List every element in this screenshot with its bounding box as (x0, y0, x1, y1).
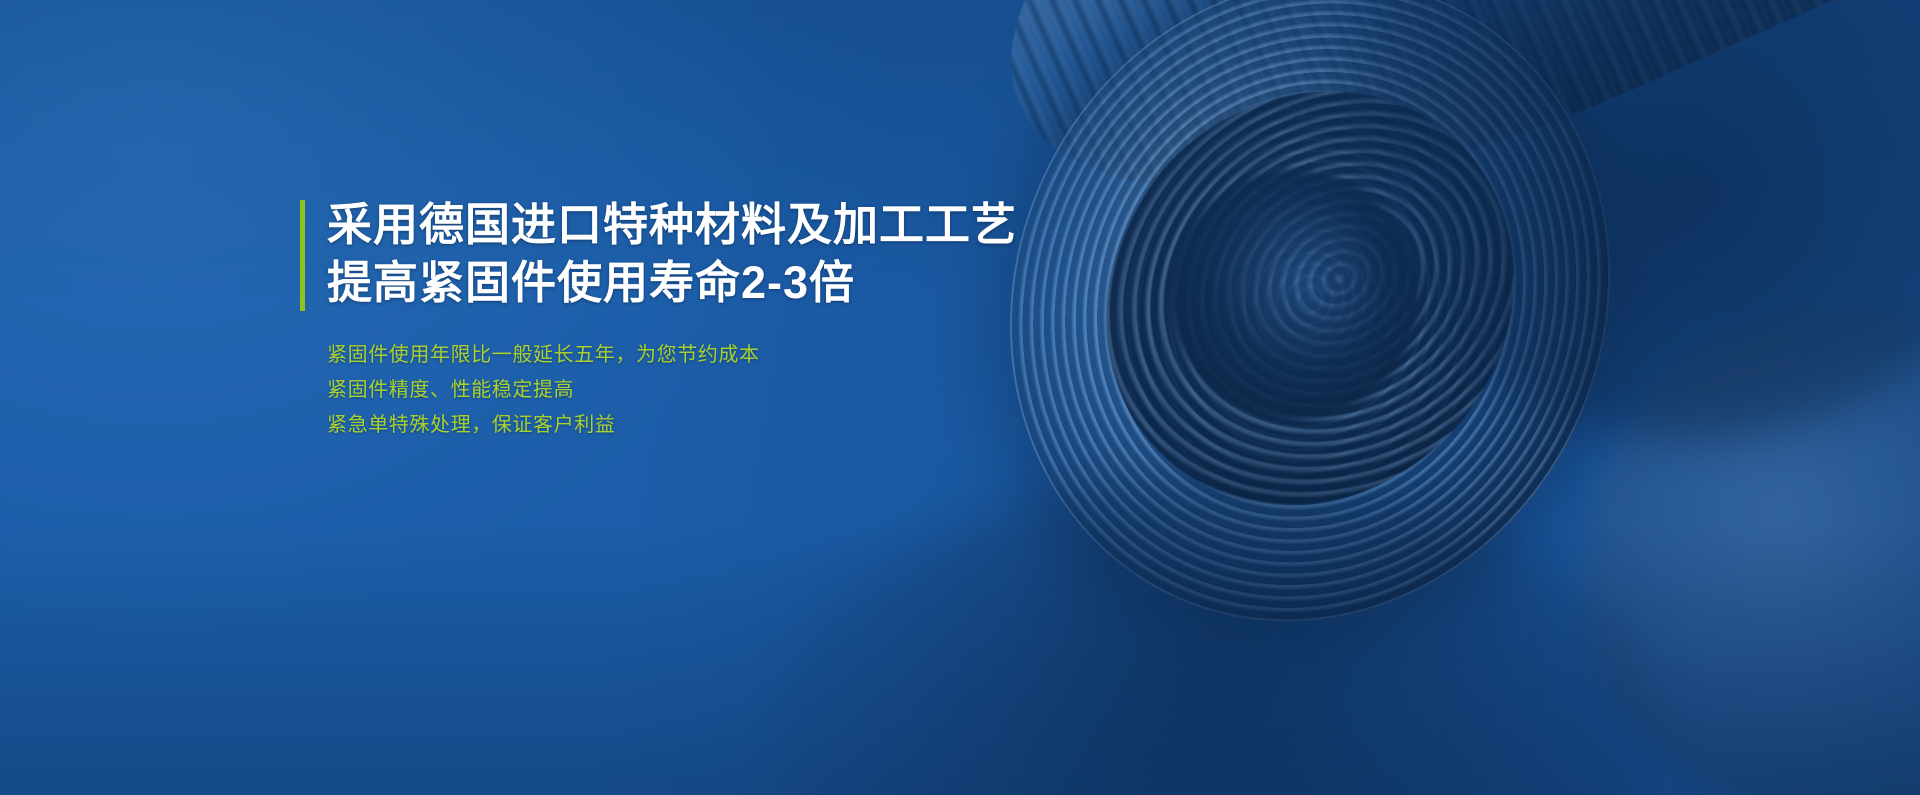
subtitle-line-3: 紧急单特殊处理，保证客户利益 (327, 408, 1200, 443)
subtitle-list: 紧固件使用年限比一般延长五年，为您节约成本 紧固件精度、性能稳定提高 紧急单特殊… (300, 338, 1200, 443)
headline-line-1: 采用德国进口特种材料及加工工艺 (327, 196, 1200, 254)
subtitle-line-1: 紧固件使用年限比一般延长五年，为您节约成本 (327, 338, 1200, 373)
hero-banner: 采用德国进口特种材料及加工工艺 提高紧固件使用寿命2-3倍 紧固件使用年限比一般… (0, 0, 1920, 795)
headline-block: 采用德国进口特种材料及加工工艺 提高紧固件使用寿命2-3倍 (300, 196, 1200, 312)
headline-line-2: 提高紧固件使用寿命2-3倍 (327, 254, 1200, 312)
subtitle-line-2: 紧固件精度、性能稳定提高 (327, 373, 1200, 408)
green-accent-bar (300, 200, 305, 311)
banner-content: 采用德国进口特种材料及加工工艺 提高紧固件使用寿命2-3倍 紧固件使用年限比一般… (300, 196, 1200, 443)
